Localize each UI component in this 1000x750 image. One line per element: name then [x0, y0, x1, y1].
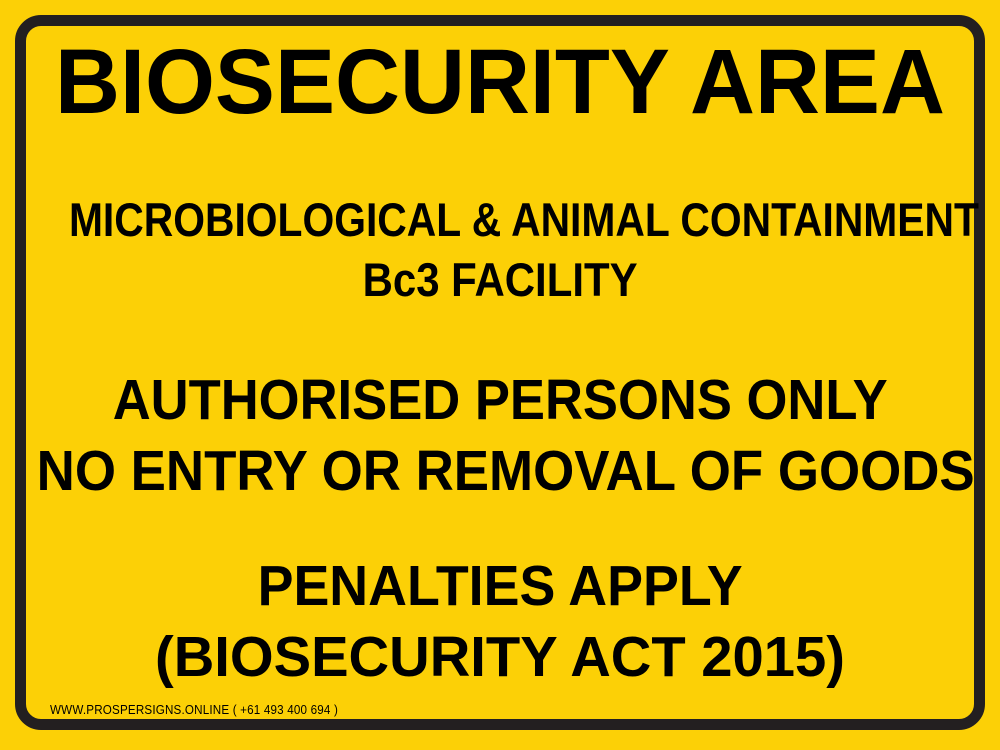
sign-penalties-block: PENALTIES APPLY (BIOSECURITY ACT 2015): [0, 558, 1000, 686]
sign-subheading-line-1: MICROBIOLOGICAL & ANIMAL CONTAINMENT: [0, 196, 1000, 243]
sign-penalties-line-2-text: (BIOSECURITY ACT 2015): [155, 629, 845, 686]
sign-content: BIOSECURITY AREA MICROBIOLOGICAL & ANIMA…: [0, 0, 1000, 750]
sign-penalties-line-1: PENALTIES APPLY: [0, 558, 1000, 615]
biosecurity-warning-sign: BIOSECURITY AREA MICROBIOLOGICAL & ANIMA…: [0, 0, 1000, 750]
sign-subheading-line-2-text: Bc3 FACILITY: [362, 256, 637, 303]
sign-penalties-line-2: (BIOSECURITY ACT 2015): [0, 629, 1000, 686]
sign-penalties-line-1-text: PENALTIES APPLY: [257, 558, 742, 615]
sign-subheading-line-1-text: MICROBIOLOGICAL & ANIMAL CONTAINMENT: [69, 196, 979, 243]
sign-title: BIOSECURITY AREA: [0, 36, 1000, 128]
sign-warning-line-1-text: AUTHORISED PERSONS ONLY: [113, 372, 888, 429]
sign-subheading-line-2: Bc3 FACILITY: [0, 256, 1000, 303]
sign-warning-line-1: AUTHORISED PERSONS ONLY: [0, 372, 1000, 429]
sign-warning-block: AUTHORISED PERSONS ONLY NO ENTRY OR REMO…: [0, 372, 1000, 500]
sign-subheading-block: MICROBIOLOGICAL & ANIMAL CONTAINMENT Bc3…: [0, 196, 1000, 303]
sign-title-text: BIOSECURITY AREA: [55, 36, 945, 128]
sign-warning-line-2: NO ENTRY OR REMOVAL OF GOODS: [0, 443, 1000, 500]
sign-footer-credit: WWW.PROSPERSIGNS.ONLINE ( +61 493 400 69…: [50, 702, 338, 717]
sign-warning-line-2-text: NO ENTRY OR REMOVAL OF GOODS: [37, 443, 975, 500]
